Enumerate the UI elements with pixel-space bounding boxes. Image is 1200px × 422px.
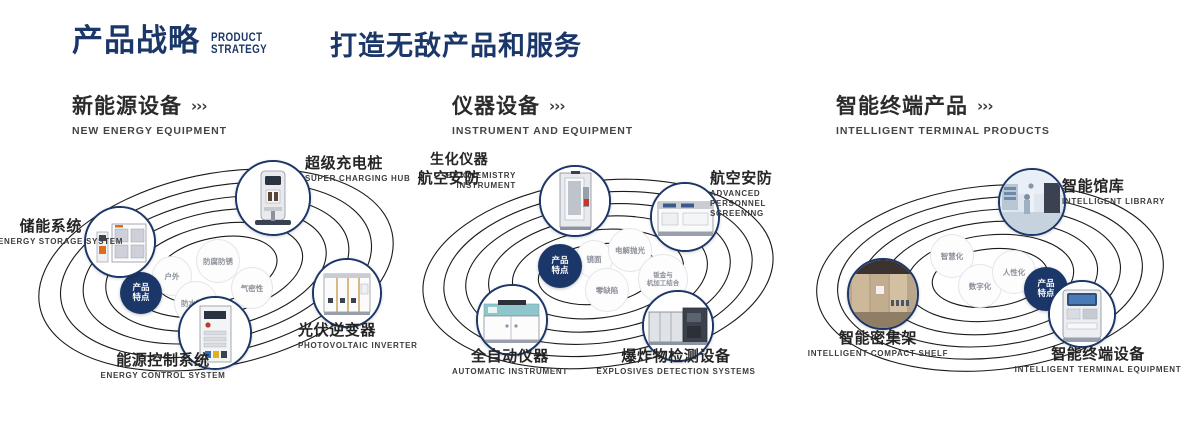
section-title-en: INSTRUMENT AND EQUIPMENT	[452, 125, 633, 137]
page-title: 产品战略 PRODUCT STRATEGY	[72, 26, 279, 57]
diagram-intelligent-terminal: 智慧化 数字化 人性化 产品特点	[800, 150, 1200, 412]
chevron-triple-icon: ›››	[977, 99, 993, 114]
section-title-en: NEW ENERGY EQUIPMENT	[72, 125, 227, 137]
automatic-analyzer-icon	[478, 286, 546, 354]
core-bubble-product-features: 产品特点	[538, 244, 582, 288]
caption-aviation-security-secondary: 航空安防	[396, 170, 480, 187]
section-title-cn: 智能终端产品›››	[836, 96, 1050, 117]
section-title-intelligent: 智能终端产品››› INTELLIGENT TERMINAL PRODUCTS	[836, 96, 1050, 137]
charging-pile-icon	[237, 162, 309, 234]
node-automatic-analyzer[interactable]	[476, 284, 548, 356]
pv-inverter-icon	[314, 260, 380, 326]
caption-energy-storage: 储能系统 ENERGY STORAGE SYSTEM	[0, 218, 82, 247]
caption-pv-inverter: 光伏逆变器 PHOTOVOLTAIC INVERTER	[298, 322, 418, 351]
caption-library-room: 智能馆库 INTELLIGENT LIBRARY	[1062, 178, 1165, 207]
section-title-en: INTELLIGENT TERMINAL PRODUCTS	[836, 125, 1050, 137]
section-title-cn: 仪器设备›››	[452, 96, 633, 117]
caption-compact-shelf: 智能密集架 INTELLIGENT COMPACT SHELF	[795, 330, 961, 359]
section-title-cn: 新能源设备›››	[72, 96, 227, 117]
library-room-icon	[1000, 170, 1064, 234]
diagram-new-energy: 防腐防锈 户外 防水防尘 气密性 产品特点	[20, 150, 420, 412]
feature-bubble: 零缺陷	[585, 268, 629, 312]
caption-screening-machine: 航空安防 ADVANCED PERSONNEL SCREENING	[710, 170, 806, 219]
node-pv-inverter[interactable]	[312, 258, 382, 328]
caption-control-cabinet: 能源控制系统 ENERGY CONTROL SYSTEM	[78, 352, 248, 381]
node-charging-pile[interactable]	[235, 160, 311, 236]
diagram-instrument: 镜面 电解抛光 钣金与机加工结合 零缺陷 产品特点	[410, 150, 810, 412]
caption-self-service-kiosk: 智能终端设备 INTELLIGENT TERMINAL EQUIPMENT	[998, 346, 1198, 375]
section-title-instrument: 仪器设备››› INSTRUMENT AND EQUIPMENT	[452, 96, 633, 137]
caption-automatic-analyzer: 全自动仪器 AUTOMATIC INSTRUMENT	[420, 348, 600, 377]
node-compact-shelf[interactable]	[847, 258, 919, 330]
caption-explosive-detector: 爆炸物检测设备 EXPLOSIVES DETECTION SYSTEMS	[576, 348, 776, 377]
title-english: PRODUCT STRATEGY	[211, 31, 267, 55]
biochem-scanner-icon	[541, 167, 609, 235]
self-service-kiosk-icon	[1050, 282, 1114, 346]
chevron-triple-icon: ›››	[191, 99, 207, 114]
section-title-new-energy: 新能源设备››› NEW ENERGY EQUIPMENT	[72, 96, 227, 137]
screening-machine-icon	[652, 184, 718, 250]
title-english-line2: STRATEGY	[211, 43, 267, 55]
core-bubble-product-features: 产品特点	[120, 272, 162, 314]
page-subtitle: 打造无敌产品和服务	[330, 33, 582, 60]
node-library-room[interactable]	[998, 168, 1066, 236]
caption-charging-pile: 超级充电桩 SUPER CHARGING HUB	[305, 155, 411, 184]
title-chinese: 产品战略	[72, 26, 200, 57]
node-self-service-kiosk[interactable]	[1048, 280, 1116, 348]
node-biochem-scanner[interactable]	[539, 165, 611, 237]
poster-canvas: 产品战略 PRODUCT STRATEGY 打造无敌产品和服务 新能源设备›››…	[0, 0, 1200, 422]
chevron-triple-icon: ›››	[549, 99, 565, 114]
compact-shelf-icon	[849, 260, 917, 328]
